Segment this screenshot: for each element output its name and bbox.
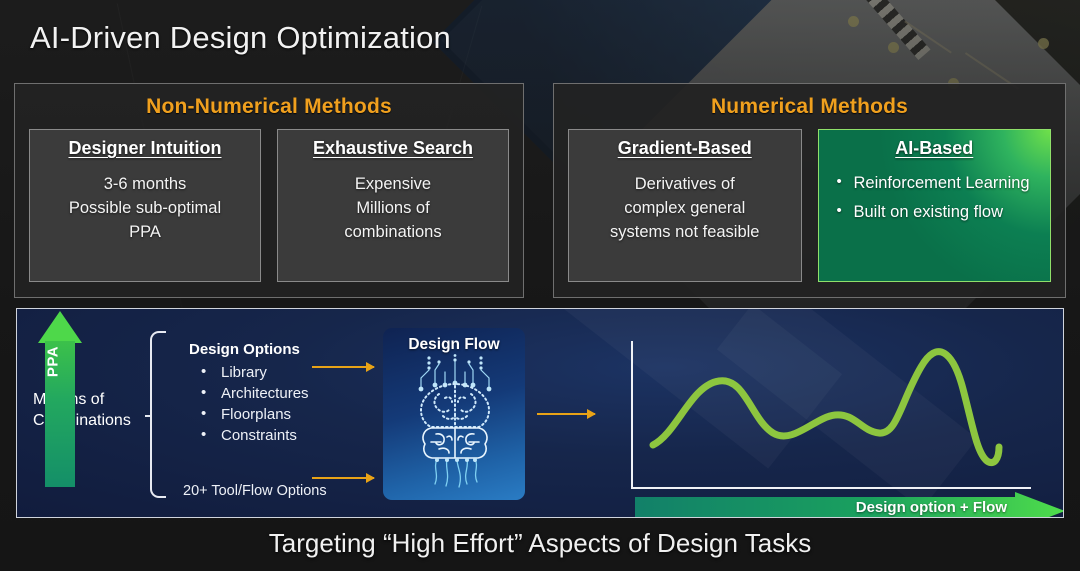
design-option-item: Architectures <box>197 384 309 403</box>
diagram-panel: Millions of Combinations Design Options … <box>16 308 1064 518</box>
card-heading: Designer Intuition <box>40 138 250 159</box>
panel-title-non-numerical: Non-Numerical Methods <box>15 95 523 119</box>
card-ai-based[interactable]: AI-Based Reinforcement Learning Built on… <box>818 129 1052 282</box>
card-line: combinations <box>288 221 498 243</box>
card-heading: Gradient-Based <box>579 138 791 159</box>
design-options-list: Library Architectures Floorplans Constra… <box>197 363 309 447</box>
card-line: Possible sub-optimal <box>40 197 250 219</box>
panel-title-numerical: Numerical Methods <box>554 95 1065 119</box>
card-exhaustive-search[interactable]: Exhaustive Search Expensive Millions of … <box>277 129 509 282</box>
card-bullet: Built on existing flow <box>837 202 1041 223</box>
chart-y-axis <box>631 341 633 489</box>
card-gradient-based[interactable]: Gradient-Based Derivatives of complex ge… <box>568 129 802 282</box>
card-body: 3-6 months Possible sub-optimal PPA <box>40 173 250 243</box>
card-line: complex general <box>579 197 791 219</box>
ppa-axis-label: PPA <box>45 339 62 385</box>
card-body: Derivatives of complex general systems n… <box>579 173 791 243</box>
card-line: PPA <box>40 221 250 243</box>
card-group-numerical: Gradient-Based Derivatives of complex ge… <box>554 119 1065 282</box>
ppa-performance-curve <box>647 329 1047 489</box>
design-option-item: Constraints <box>197 426 309 445</box>
card-heading: AI-Based <box>829 138 1041 159</box>
panel-non-numerical: Non-Numerical Methods Designer Intuition… <box>14 83 524 298</box>
card-heading: Exhaustive Search <box>288 138 498 159</box>
card-line: Millions of <box>288 197 498 219</box>
card-designer-intuition[interactable]: Designer Intuition 3-6 months Possible s… <box>29 129 261 282</box>
card-bullet: Reinforcement Learning <box>837 173 1041 194</box>
grouping-bracket <box>150 331 166 498</box>
arrow-design-options-to-flow-icon <box>312 366 374 368</box>
card-line: 3-6 months <box>40 173 250 195</box>
card-line: Expensive <box>288 173 498 195</box>
arrow-flow-to-ppa-icon <box>537 413 595 415</box>
card-body: Expensive Millions of combinations <box>288 173 498 243</box>
arrow-tool-options-to-flow-icon <box>312 477 374 479</box>
card-bullet-list: Reinforcement Learning Built on existing… <box>829 173 1041 223</box>
card-group-non-numerical: Designer Intuition 3-6 months Possible s… <box>15 119 523 282</box>
card-line: systems not feasible <box>579 221 791 243</box>
tool-flow-options-label: 20+ Tool/Flow Options <box>183 483 327 499</box>
panel-numerical: Numerical Methods Gradient-Based Derivat… <box>553 83 1066 298</box>
page-title: AI-Driven Design Optimization <box>30 20 451 56</box>
design-flow-box[interactable]: Design Flow <box>383 328 525 500</box>
x-axis-label: Design option + Flow <box>635 499 1015 516</box>
card-line: Derivatives of <box>579 173 791 195</box>
ppa-axis-arrow: PPA <box>38 311 82 487</box>
design-option-item: Floorplans <box>197 405 309 424</box>
design-option-item: Library <box>197 363 309 382</box>
ai-brain-circuit-icon <box>405 354 505 492</box>
design-options-heading: Design Options <box>189 341 300 358</box>
slide-caption: Targeting “High Effort” Aspects of Desig… <box>0 528 1080 559</box>
design-flow-title: Design Flow <box>383 336 525 354</box>
slide-canvas: AI-Driven Design Optimization Non-Numeri… <box>0 0 1080 571</box>
